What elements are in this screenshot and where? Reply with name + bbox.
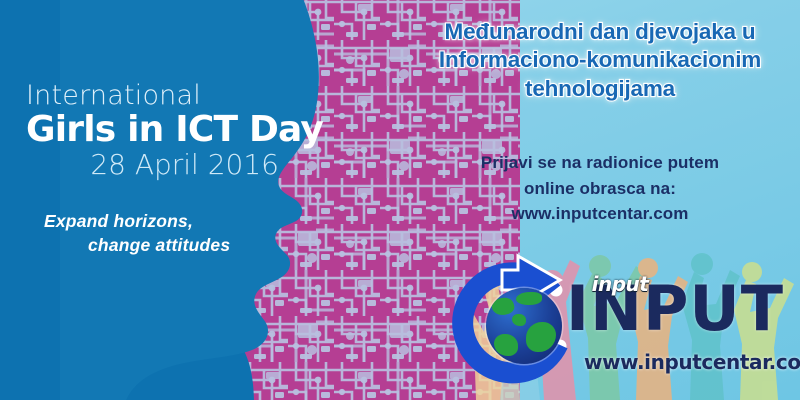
tagline-line-1: Expand horizons, [44, 211, 193, 231]
event-date: 28 April 2016 [26, 150, 279, 179]
logo-url[interactable]: www.inputcentar.com [584, 350, 800, 374]
subtitle-website[interactable]: www.inputcentar.com [404, 201, 796, 227]
tagline: Expand horizons, change attitudes [44, 210, 230, 257]
subtitle: Prijavi se na radionice putem online obr… [404, 150, 796, 227]
tagline-line-2: change attitudes [44, 234, 230, 258]
headline-line-2: Informaciono-komunikacionim [404, 46, 796, 74]
international-label: International [26, 82, 326, 109]
event-title: Girls in ICT Day [26, 111, 326, 149]
headline: Međunarodni dan djevojaka u Informaciono… [404, 18, 796, 103]
left-text-block: International Girls in ICT Day 28 April … [26, 82, 326, 179]
headline-line-1: Međunarodni dan djevojaka u [404, 18, 796, 46]
headline-line-3: tehnologijama [404, 75, 796, 103]
subtitle-line-2: online obrasca na: [404, 176, 796, 202]
input-logo[interactable]: input INPUT www.inputcentar.com [440, 246, 800, 400]
poster-banner: International Girls in ICT Day 28 April … [0, 0, 800, 400]
globe-icon [486, 288, 562, 364]
subtitle-line-1: Prijavi se na radionice putem [404, 150, 796, 176]
blue-face-silhouette [60, 0, 400, 400]
globe-wordmark: input [440, 272, 800, 296]
